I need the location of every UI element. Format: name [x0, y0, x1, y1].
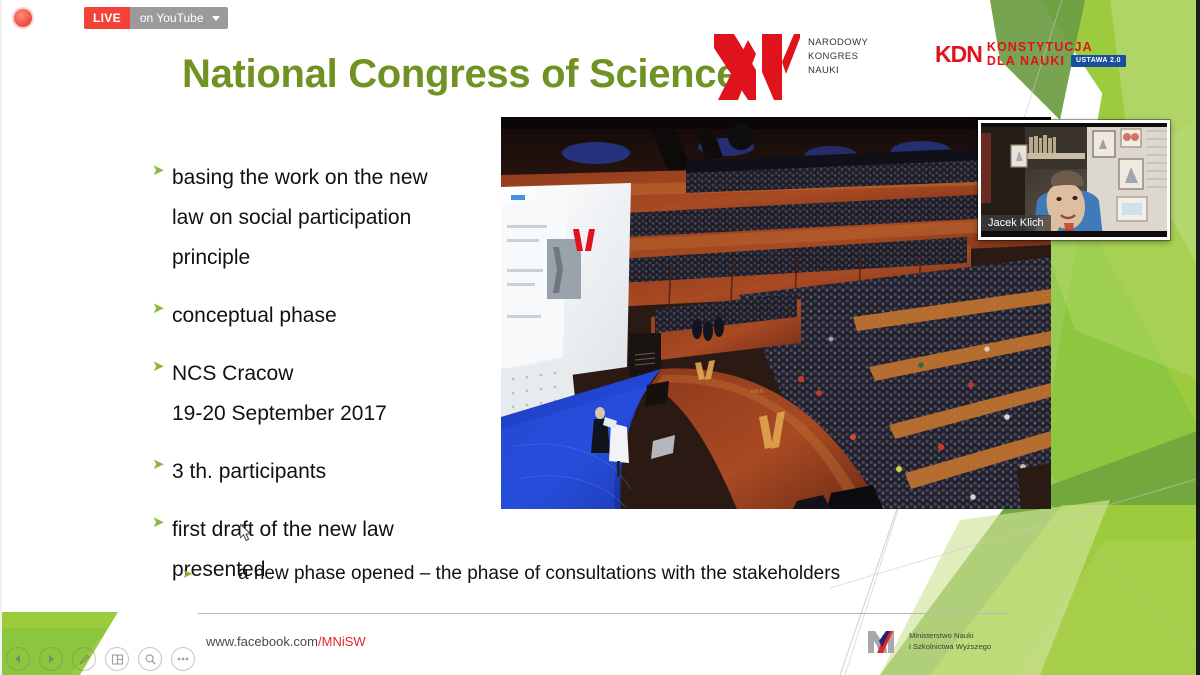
next-slide-button[interactable]: [39, 647, 63, 671]
record-dot-icon: [14, 9, 32, 27]
presentation-stage: LIVE on YouTube National Congress of Sci…: [0, 0, 1200, 675]
more-options-button[interactable]: [171, 647, 195, 671]
kdn-line-2: DLA NAUKI: [987, 54, 1065, 68]
arrow-bullet-icon: ➤: [152, 452, 172, 478]
ellipsis-icon: [176, 656, 190, 662]
auditorium-illustration: NKN: [501, 117, 1051, 509]
arrow-bullet-icon: ➤: [152, 296, 172, 322]
nkn-logo-text: NARODOWY KONGRES NAUKI: [808, 36, 868, 77]
svg-text:NKN: NKN: [751, 389, 764, 395]
sub-bullet-text: a new phase opened – the phase of consul…: [238, 562, 840, 586]
nkn-k-mark-icon: [708, 30, 800, 102]
kdn-logo: KDN KONSTYTUCJA DLA NAUKI USTAWA 2.0: [935, 40, 1126, 68]
congress-auditorium-photo: NKN: [501, 117, 1051, 509]
triangle-right-icon: [46, 654, 56, 664]
bullet-line: basing the work on the new: [172, 166, 428, 189]
live-status-badge[interactable]: LIVE on YouTube: [84, 7, 228, 29]
mouse-cursor: [240, 524, 254, 542]
kdn-mark-text: KDN: [935, 41, 982, 68]
layout-grid-icon: [111, 653, 124, 666]
live-label: LIVE: [84, 7, 130, 29]
live-source-label: on YouTube: [140, 11, 204, 25]
ustawa-badge: USTAWA 2.0: [1071, 55, 1126, 67]
kdn-logo-text: KONSTYTUCJA DLA NAUKI USTAWA 2.0: [987, 40, 1126, 68]
bullet-text: 3 th. participants: [172, 452, 326, 492]
facebook-link-prefix: www.facebook.com: [206, 634, 318, 649]
kdn-line-1: KONSTYTUCJA: [987, 40, 1126, 54]
sub-list-item: ➤ a new phase opened – the phase of cons…: [182, 562, 840, 586]
ministry-mark-icon: [866, 629, 902, 655]
bullet-line: law on social participation: [172, 206, 411, 229]
ministry-logo-text: Ministerstwo Nauki i Szkolnictwa Wyższeg…: [909, 631, 991, 653]
webcam-overlay[interactable]: Jacek Klich: [978, 120, 1170, 240]
slide-bullet-list: ➤ basing the work on the new law on soci…: [152, 158, 552, 608]
ministry-line-1: Ministerstwo Nauki: [909, 631, 991, 642]
slide-right-edge: [1196, 0, 1200, 675]
bullet-line: 19-20 September 2017: [172, 402, 387, 425]
nkn-line-2: KONGRES: [808, 50, 868, 64]
layout-view-button[interactable]: [105, 647, 129, 671]
nkn-logo: NARODOWY KONGRES NAUKI: [708, 30, 868, 102]
arrow-bullet-icon: ➤: [152, 510, 172, 536]
slide-title: National Congress of Science: [182, 52, 738, 97]
zoom-button[interactable]: [138, 647, 162, 671]
live-source-selector[interactable]: on YouTube: [130, 7, 228, 29]
arrow-bullet-icon: ➤: [182, 562, 238, 586]
pen-tool-button[interactable]: [72, 647, 96, 671]
nkn-line-3: NAUKI: [808, 64, 868, 78]
presentation-toolbar: [0, 643, 195, 675]
list-item: ➤ conceptual phase: [152, 296, 552, 336]
list-item: ➤ basing the work on the new law on soci…: [152, 158, 552, 278]
list-item: ➤ 3 th. participants: [152, 452, 552, 492]
facebook-link-handle: /MNiSW: [318, 634, 366, 649]
bullet-line: NCS Cracow: [172, 362, 293, 385]
magnifier-icon: [144, 653, 157, 666]
triangle-left-icon: [13, 654, 23, 664]
bullet-line: principle: [172, 246, 250, 269]
list-item: ➤ NCS Cracow 19-20 September 2017: [152, 354, 552, 434]
pen-icon: [78, 653, 91, 666]
facebook-link[interactable]: www.facebook.com/MNiSW: [206, 634, 366, 649]
arrow-bullet-icon: ➤: [152, 158, 172, 184]
bullet-line: first draft of the new law: [172, 518, 394, 541]
slide-left-edge: [0, 0, 2, 675]
previous-slide-button[interactable]: [6, 647, 30, 671]
ministry-logo: Ministerstwo Nauki i Szkolnictwa Wyższeg…: [866, 629, 991, 655]
footer-divider: [198, 613, 1008, 614]
chevron-down-icon: [212, 16, 220, 21]
bullet-text: NCS Cracow 19-20 September 2017: [172, 354, 387, 434]
bullet-text: conceptual phase: [172, 296, 337, 336]
webcam-speaker-name: Jacek Klich: [981, 215, 1051, 231]
nkn-line-1: NARODOWY: [808, 36, 868, 50]
ministry-line-2: i Szkolnictwa Wyższego: [909, 642, 991, 653]
kdn-line-2-row: DLA NAUKI USTAWA 2.0: [987, 54, 1126, 68]
arrow-bullet-icon: ➤: [152, 354, 172, 380]
bullet-text: basing the work on the new law on social…: [172, 158, 428, 278]
